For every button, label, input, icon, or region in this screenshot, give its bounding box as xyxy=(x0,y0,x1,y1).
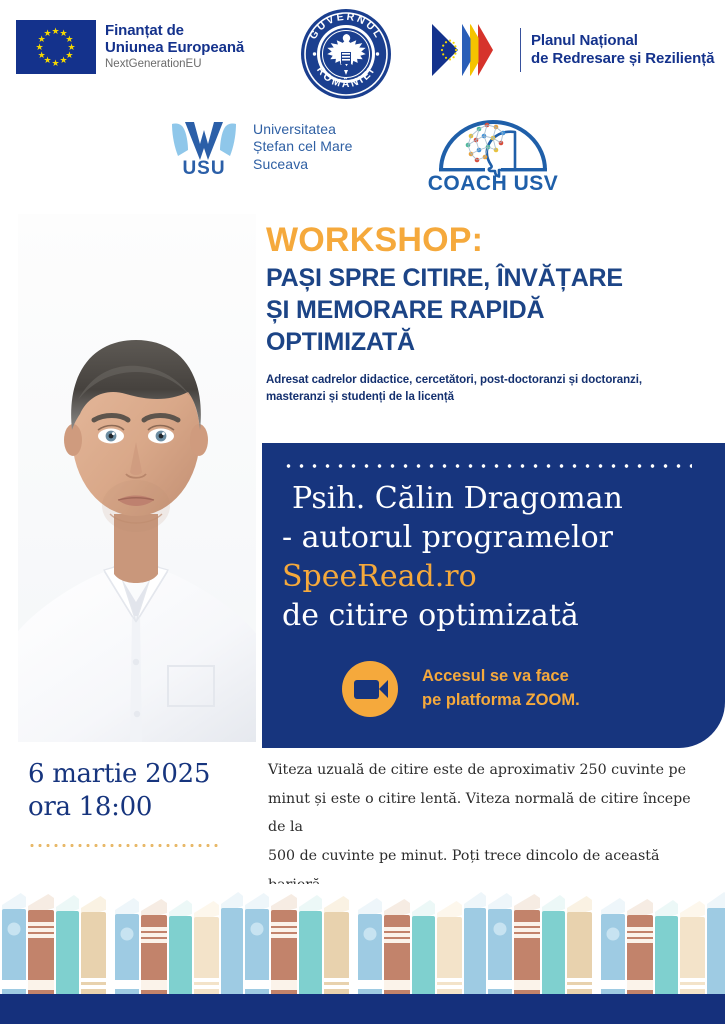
eu-star-icon: ★ xyxy=(52,59,60,68)
workshop-title-line2: ȘI MEMORARE RAPIDĂ xyxy=(266,294,718,326)
logo-pnrr: Planul Național de Redresare și Rezilien… xyxy=(432,24,714,76)
logo-eu-line2: Uniunea Europeană xyxy=(105,40,244,57)
svg-text:COACH USV: COACH USV xyxy=(428,172,559,194)
video-camera-lens xyxy=(379,680,388,698)
logo-usu-text: Universitatea Ștefan cel Mare Suceava xyxy=(253,121,353,174)
logo-usu-line3: Suceava xyxy=(253,156,353,174)
logo-eu-line3: NextGenerationEU xyxy=(105,58,244,71)
zoom-access-text: Accesul se va face pe platforma ZOOM. xyxy=(422,665,580,713)
logo-pnrr-line2: de Redresare și Reziliență xyxy=(531,50,714,68)
event-date: 6 martie 2025 xyxy=(28,758,248,791)
speaker-role: - autorul programelor xyxy=(282,518,712,557)
audience-note-line1: Adresat cadrelor didactice, cercetători,… xyxy=(266,372,718,389)
speaker-panel: Psih. Călin Dragoman - autorul programel… xyxy=(262,443,725,748)
zoom-access-row: Accesul se va face pe platforma ZOOM. xyxy=(342,661,580,717)
logo-usu: USU Universitatea Ștefan cel Mare Suceav… xyxy=(168,116,353,178)
event-date-block: 6 martie 2025 ora 18:00 xyxy=(28,758,248,848)
video-camera-icon xyxy=(342,661,398,717)
zoom-access-line1: Accesul se va face xyxy=(422,665,580,689)
pnrr-arrows-icon xyxy=(432,24,510,76)
heading-block: WORKSHOP: PAȘI SPRE CITIRE, ÎNVĂȚARE ȘI … xyxy=(266,222,718,405)
speaker-photo xyxy=(18,214,256,742)
eu-flag-icon: ★★★★★★★★★★★★ xyxy=(16,20,96,74)
speaker-program-desc: de citire optimizată xyxy=(282,596,712,635)
eu-star-icon: ★ xyxy=(60,56,68,65)
poster-root: ★★★★★★★★★★★★ Finanțat de Uniunea Europea… xyxy=(0,0,725,1024)
workshop-title-line3: OPTIMIZATĂ xyxy=(266,326,718,358)
coach-usv-logo-icon: COACH USV xyxy=(423,112,563,194)
logo-usu-line2: Ștefan cel Mare xyxy=(253,138,353,156)
speaker-info: Psih. Călin Dragoman - autorul programel… xyxy=(282,479,712,635)
logo-bar: ★★★★★★★★★★★★ Finanțat de Uniunea Europea… xyxy=(0,0,725,105)
logo-eu-text: Finanțat de Uniunea Europeană NextGenera… xyxy=(105,23,244,71)
logo-pnrr-line1: Planul Național xyxy=(531,32,714,50)
event-time: ora 18:00 xyxy=(28,791,248,824)
zoom-access-line2: pe platforma ZOOM. xyxy=(422,689,580,713)
speaker-name: Psih. Călin Dragoman xyxy=(282,479,712,518)
eu-star-icon: ★ xyxy=(44,29,52,38)
seal-svg: GUVERNUL ROMÂNIEI xyxy=(300,8,392,100)
panel-dotted-divider xyxy=(282,463,692,469)
body-copy-line2: minut și este o citire lentă. Viteza nor… xyxy=(268,785,712,842)
audience-note-line2: masteranzi și studenți de la licență xyxy=(266,389,718,406)
audience-note: Adresat cadrelor didactice, cercetători,… xyxy=(266,372,718,405)
speaker-program-link[interactable]: SpeeRead.ro xyxy=(282,557,712,596)
eu-star-icon: ★ xyxy=(38,51,46,60)
eu-star-icon: ★ xyxy=(52,27,60,36)
video-camera-body xyxy=(354,680,379,699)
logo-usu-line1: Universitatea xyxy=(253,121,353,139)
logo-pnrr-text: Planul Național de Redresare și Rezilien… xyxy=(531,32,714,67)
svg-text:USU: USU xyxy=(182,158,225,178)
date-dotted-divider xyxy=(28,843,218,848)
eu-star-icon: ★ xyxy=(36,43,44,52)
footer-blue-strip xyxy=(0,994,725,1024)
guvernul-romaniei-seal-icon: GUVERNUL ROMÂNIEI xyxy=(300,8,392,100)
usu-logo-icon: USU xyxy=(168,116,240,178)
logo-eu-line1: Finanțat de xyxy=(105,23,244,40)
body-copy-line1: Viteza uzuală de citire este de aproxima… xyxy=(268,756,712,785)
books-footer xyxy=(0,884,725,1024)
logo-eu: ★★★★★★★★★★★★ Finanțat de Uniunea Europea… xyxy=(16,20,244,74)
workshop-label: WORKSHOP: xyxy=(266,222,718,258)
workshop-title: PAȘI SPRE CITIRE, ÎNVĂȚARE ȘI MEMORARE R… xyxy=(266,262,718,358)
pnrr-divider xyxy=(520,28,521,72)
workshop-title-line1: PAȘI SPRE CITIRE, ÎNVĂȚARE xyxy=(266,262,718,294)
